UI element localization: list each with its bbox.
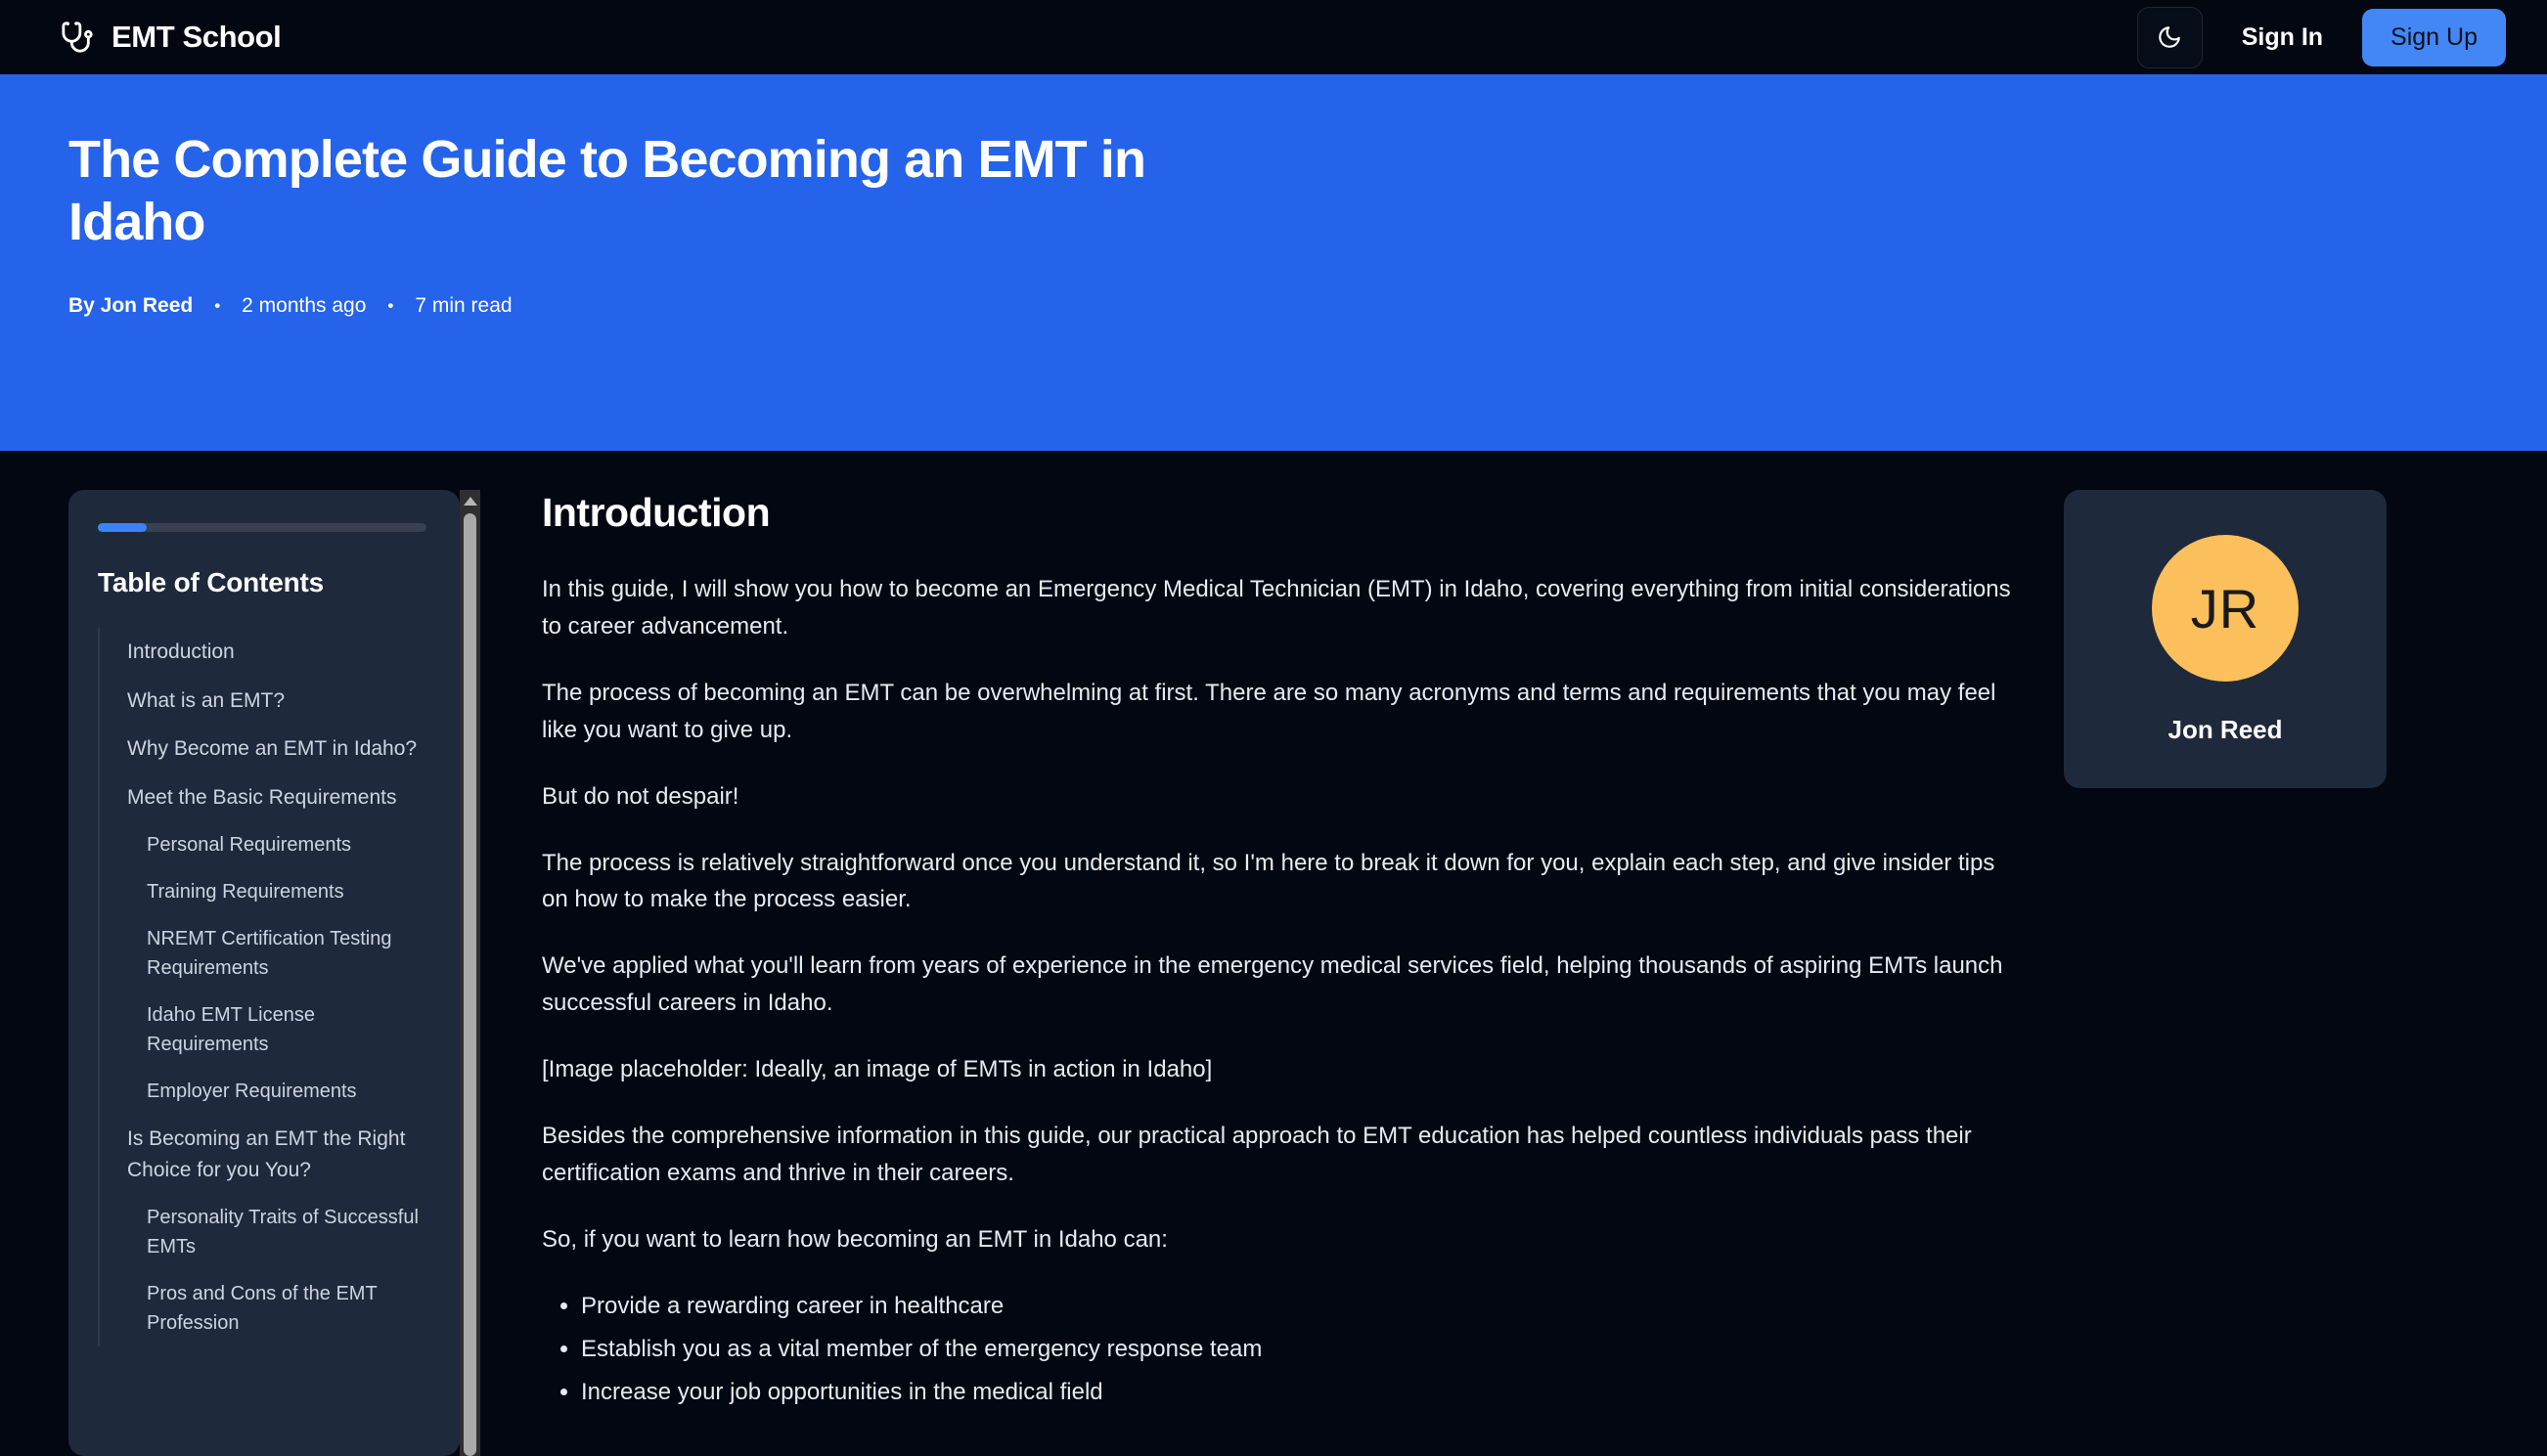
article-paragraph: So, if you want to learn how becoming an…	[542, 1221, 2013, 1258]
article-bullet-list: Provide a rewarding career in healthcare…	[542, 1288, 2013, 1411]
page-title: The Complete Guide to Becoming an EMT in…	[68, 129, 1291, 253]
toc-item[interactable]: Personality Traits of Successful EMTs	[100, 1194, 434, 1270]
section-heading-introduction: Introduction	[542, 490, 2013, 536]
meta-separator-2: •	[387, 296, 393, 316]
toc-item[interactable]: Introduction	[100, 628, 434, 677]
toc-scrollbar[interactable]	[460, 490, 480, 1456]
toc-item[interactable]: Meet the Basic Requirements	[100, 773, 434, 822]
toc-item[interactable]: Idaho EMT License Requirements	[100, 992, 434, 1068]
article-meta: By Jon Reed • 2 months ago • 7 min read	[68, 294, 2486, 318]
sign-up-button[interactable]: Sign Up	[2362, 9, 2506, 66]
author-name: Jon Reed	[2083, 715, 2367, 745]
article-content: Introduction In this guide, I will show …	[479, 490, 2064, 1431]
author-card: JR Jon Reed	[2064, 490, 2387, 788]
article-paragraph: The process of becoming an EMT can be ov…	[542, 675, 2013, 749]
moon-icon	[2157, 24, 2182, 50]
top-navigation-bar: EMT School Sign In Sign Up	[0, 0, 2547, 74]
article-paragraphs: In this guide, I will show you how to be…	[542, 571, 2013, 1258]
brand-logo[interactable]: EMT School	[61, 20, 281, 55]
reading-progress-fill	[98, 523, 147, 532]
toc-item[interactable]: Personal Requirements	[100, 821, 434, 868]
page-body: Table of Contents IntroductionWhat is an…	[0, 451, 2547, 1456]
article-paragraph: In this guide, I will show you how to be…	[542, 571, 2013, 645]
toc-item[interactable]: Employer Requirements	[100, 1068, 434, 1115]
stethoscope-icon	[61, 21, 94, 54]
sign-in-link[interactable]: Sign In	[2220, 23, 2345, 52]
published-date: 2 months ago	[242, 294, 366, 318]
article-paragraph: But do not despair!	[542, 778, 2013, 816]
toc-heading: Table of Contents	[98, 567, 434, 598]
toc-item[interactable]: Why Become an EMT in Idaho?	[100, 725, 434, 773]
article-paragraph: We've applied what you'll learn from yea…	[542, 948, 2013, 1022]
article-bullet-item: Establish you as a vital member of the e…	[581, 1331, 2013, 1368]
scrollbar-thumb[interactable]	[464, 513, 476, 1456]
table-of-contents-sidebar: Table of Contents IntroductionWhat is an…	[68, 490, 479, 1456]
author-byline: By Jon Reed	[68, 294, 193, 318]
article-paragraph: The process is relatively straightforwar…	[542, 845, 2013, 919]
toc-list: IntroductionWhat is an EMT?Why Become an…	[98, 628, 434, 1346]
toc-item[interactable]: NREMT Certification Testing Requirements	[100, 915, 434, 992]
brand-name: EMT School	[112, 20, 281, 55]
toc-item[interactable]: Is Becoming an EMT the Right Choice for …	[100, 1115, 434, 1194]
article-bullet-item: Increase your job opportunities in the m…	[581, 1374, 2013, 1411]
avatar: JR	[2152, 535, 2299, 682]
reading-progress-track	[98, 523, 426, 532]
article-paragraph: [Image placeholder: Ideally, an image of…	[542, 1051, 2013, 1088]
read-time: 7 min read	[415, 294, 512, 318]
author-sidebar: JR Jon Reed	[2064, 490, 2387, 788]
article-hero-banner: The Complete Guide to Becoming an EMT in…	[0, 74, 2547, 451]
toc-item[interactable]: Pros and Cons of the EMT Profession	[100, 1270, 434, 1346]
meta-separator-1: •	[214, 296, 220, 316]
toc-item[interactable]: What is an EMT?	[100, 677, 434, 726]
nav-actions: Sign In Sign Up	[2137, 7, 2506, 68]
toc-card: Table of Contents IntroductionWhat is an…	[68, 490, 460, 1456]
article-paragraph: Besides the comprehensive information in…	[542, 1118, 2013, 1192]
article-bullet-item: Provide a rewarding career in healthcare	[581, 1288, 2013, 1325]
scroll-up-arrow-icon[interactable]	[460, 490, 480, 511]
theme-toggle-button[interactable]	[2137, 7, 2203, 68]
toc-item[interactable]: Training Requirements	[100, 868, 434, 915]
